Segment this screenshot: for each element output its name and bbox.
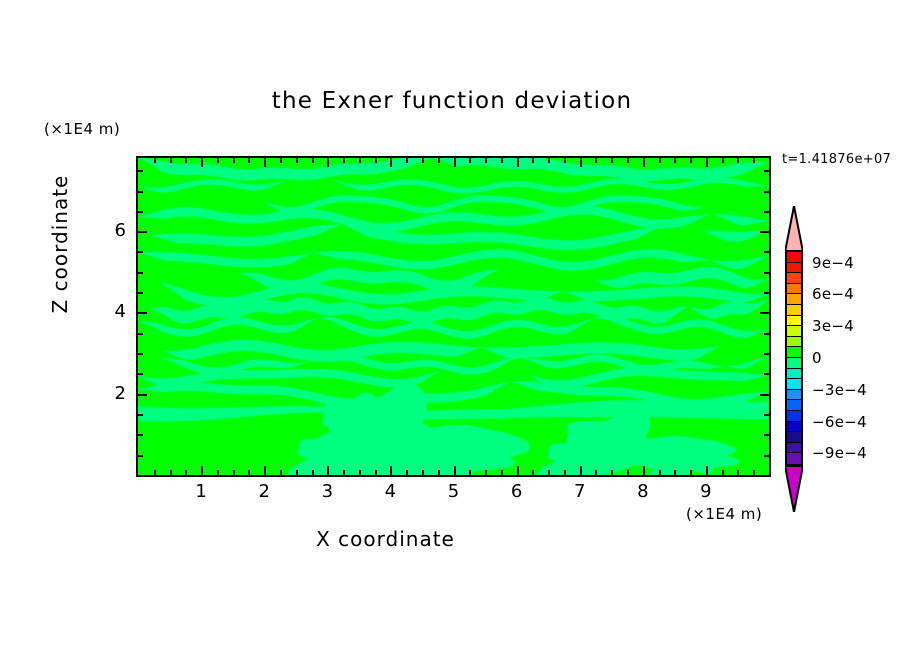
x-minor-tick [485,470,487,475]
y-axis-unit-label: (×1E4 m) [44,120,120,138]
x-major-tick-top [706,158,708,167]
colorbar-band [785,273,803,284]
x-minor-tick-top [359,158,361,163]
x-major-tick [390,466,392,475]
colorbar-band [785,263,803,274]
x-minor-tick [564,470,566,475]
colorbar-tick-label: 3e−4 [812,317,854,335]
x-tick-label: 4 [375,481,405,502]
x-major-tick-top [327,158,329,167]
x-minor-tick [359,470,361,475]
x-minor-tick [296,470,298,475]
y-minor-tick [138,292,143,294]
y-minor-tick [138,434,143,436]
x-tick-label: 8 [628,481,658,502]
x-tick-label: 6 [502,481,532,502]
x-minor-tick-top [753,158,755,163]
x-minor-tick-top [737,158,739,163]
x-minor-tick-top [422,158,424,163]
y-tick-label: 2 [104,383,126,404]
x-major-tick-top [201,158,203,167]
colorbar-band [785,400,803,411]
y-minor-tick [138,455,143,457]
x-minor-tick-top [501,158,503,163]
colorbar-tick-label: −3e−4 [812,381,867,399]
x-minor-tick-top [296,158,298,163]
x-minor-tick-top [611,158,613,163]
x-minor-tick [737,470,739,475]
colorbar-band [785,379,803,390]
x-major-tick-top [454,158,456,167]
x-tick-label: 1 [186,481,216,502]
y-tick-label: 6 [104,220,126,241]
colorbar-band [785,305,803,316]
x-minor-tick [469,470,471,475]
x-minor-tick-top [280,158,282,163]
colorbar-band [785,347,803,358]
y-minor-tick [138,414,143,416]
x-major-tick [327,466,329,475]
x-minor-tick-top [548,158,550,163]
y-minor-tick-right [764,170,769,172]
y-minor-tick [138,251,143,253]
colorbar-band [785,358,803,369]
colorbar-tick-label: 0 [812,349,822,367]
x-minor-tick-top [674,158,676,163]
x-minor-tick-top [438,158,440,163]
x-minor-tick [611,470,613,475]
x-major-tick [517,466,519,475]
y-minor-tick [138,333,143,335]
y-minor-tick-right [764,333,769,335]
y-minor-tick [138,353,143,355]
x-tick-label: 9 [691,481,721,502]
colorbar-band [785,337,803,348]
colorbar-band [785,316,803,327]
x-minor-tick-top [564,158,566,163]
y-minor-tick [138,272,143,274]
x-minor-tick-top [690,158,692,163]
x-minor-tick [548,470,550,475]
x-major-tick-top [517,158,519,167]
colorbar-band [785,252,803,263]
x-tick-label: 7 [565,481,595,502]
contour-plot-area [136,156,771,477]
x-minor-tick [280,470,282,475]
y-minor-tick [138,170,143,172]
y-minor-tick-right [764,211,769,213]
y-minor-tick-right [764,455,769,457]
x-minor-tick [185,470,187,475]
page-title: the Exner function deviation [0,88,904,114]
colorbar-band [785,294,803,305]
x-minor-tick [659,470,661,475]
x-minor-tick-top [659,158,661,163]
x-major-tick-top [264,158,266,167]
x-minor-tick [674,470,676,475]
colorbar-band [785,422,803,433]
x-minor-tick [312,470,314,475]
x-minor-tick-top [469,158,471,163]
x-minor-tick-top [248,158,250,163]
x-major-tick-top [580,158,582,167]
y-minor-tick-right [764,373,769,375]
y-major-tick [138,312,147,314]
y-major-tick [138,394,147,396]
x-minor-tick [501,470,503,475]
y-tick-label: 4 [104,301,126,322]
x-minor-tick [627,470,629,475]
colorbar-tick-label: 9e−4 [812,254,854,272]
x-major-tick [454,466,456,475]
colorbar-tick-label: −9e−4 [812,444,867,462]
y-axis-title: Z coordinate [48,154,72,334]
colorbar-under-arrow [785,466,803,512]
y-minor-tick [138,373,143,375]
y-major-tick-right [760,231,769,233]
x-minor-tick-top [627,158,629,163]
x-minor-tick-top [722,158,724,163]
y-minor-tick-right [764,434,769,436]
x-minor-tick [722,470,724,475]
colorbar-tick-label: 6e−4 [812,285,854,303]
x-minor-tick-top [185,158,187,163]
x-axis-title: X coordinate [0,527,771,551]
x-minor-tick-top [343,158,345,163]
x-tick-label: 3 [312,481,342,502]
x-minor-tick-top [595,158,597,163]
x-minor-tick-top [217,158,219,163]
x-minor-tick [690,470,692,475]
colorbar-band [785,432,803,443]
y-minor-tick-right [764,251,769,253]
colorbar-band [785,390,803,401]
colorbar-band [785,443,803,454]
x-minor-tick-top [406,158,408,163]
x-minor-tick [343,470,345,475]
colorbar-band [785,369,803,380]
x-major-tick [706,466,708,475]
x-minor-tick [532,470,534,475]
x-minor-tick [170,470,172,475]
y-minor-tick-right [764,353,769,355]
y-minor-tick-right [764,414,769,416]
colorbar-band [785,453,803,464]
y-minor-tick-right [764,272,769,274]
x-major-tick [580,466,582,475]
x-minor-tick [406,470,408,475]
colorbar-over-arrow [785,206,803,252]
x-minor-tick [375,470,377,475]
colorbar-tick-label: −6e−4 [812,413,867,431]
x-minor-tick-top [154,158,156,163]
x-minor-tick [248,470,250,475]
x-major-tick-top [643,158,645,167]
y-minor-tick [138,191,143,193]
x-tick-label: 2 [249,481,279,502]
x-tick-label: 5 [439,481,469,502]
y-minor-tick-right [764,191,769,193]
x-major-tick [643,466,645,475]
x-major-tick [264,466,266,475]
x-minor-tick-top [485,158,487,163]
y-major-tick [138,231,147,233]
x-major-tick-top [390,158,392,167]
colorbar-band [785,411,803,422]
x-minor-tick [438,470,440,475]
x-minor-tick [753,470,755,475]
colorbar-band [785,326,803,337]
contour-field-canvas [138,158,769,475]
x-minor-tick-top [312,158,314,163]
x-minor-tick-top [375,158,377,163]
y-major-tick-right [760,312,769,314]
x-minor-tick [217,470,219,475]
colorbar[interactable] [785,252,803,464]
x-axis-unit-label: (×1E4 m) [686,505,762,523]
x-minor-tick [595,470,597,475]
y-minor-tick-right [764,292,769,294]
x-minor-tick [233,470,235,475]
x-minor-tick-top [532,158,534,163]
x-major-tick [201,466,203,475]
colorbar-band [785,284,803,295]
y-minor-tick [138,211,143,213]
time-annotation: t=1.41876e+07 [782,152,891,167]
x-minor-tick-top [170,158,172,163]
x-minor-tick [154,470,156,475]
x-minor-tick [422,470,424,475]
y-major-tick-right [760,394,769,396]
x-minor-tick-top [233,158,235,163]
